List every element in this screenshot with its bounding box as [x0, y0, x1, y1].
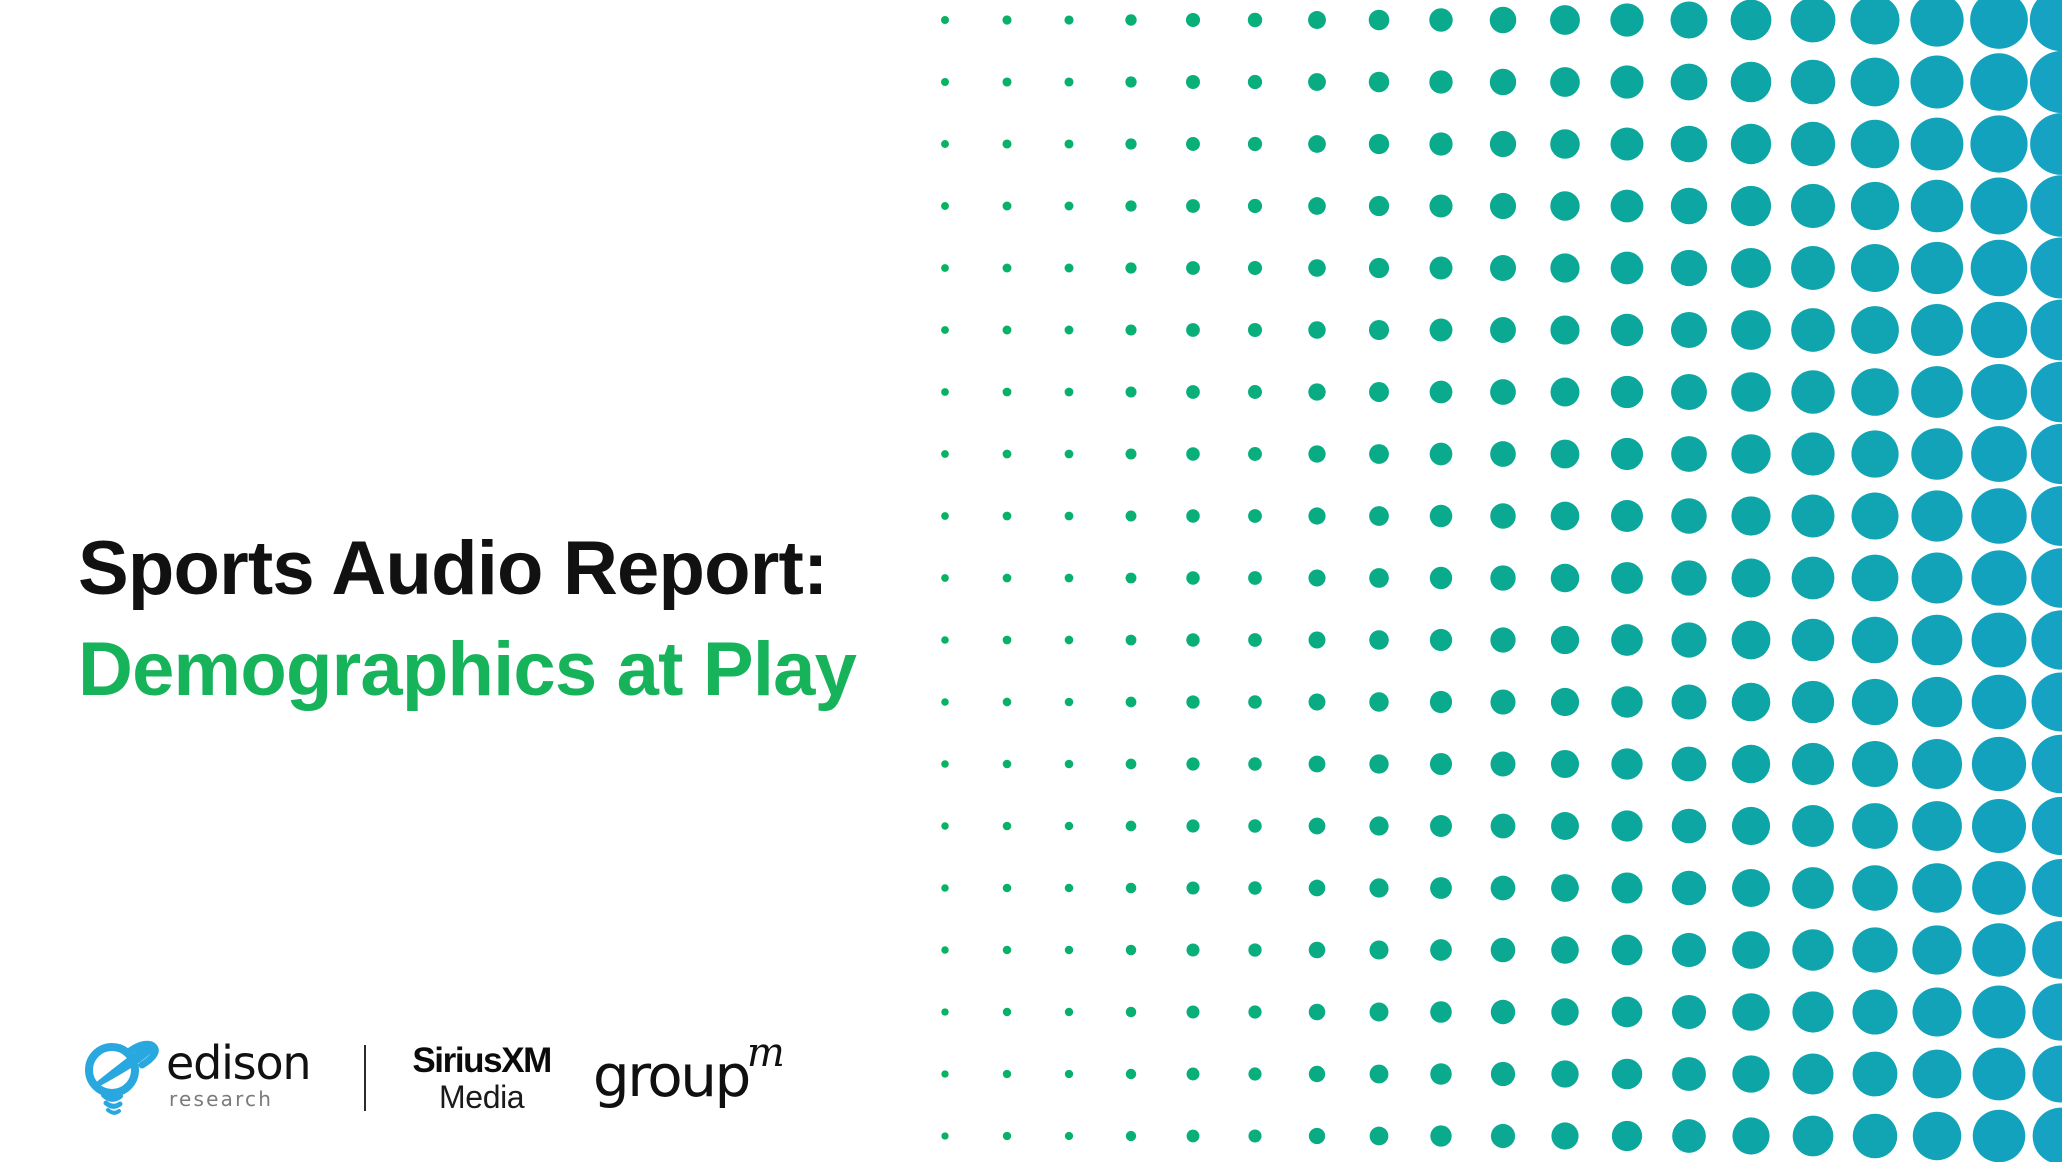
- halftone-dot: [1491, 938, 1516, 963]
- halftone-dot: [1671, 374, 1707, 410]
- halftone-dot: [1125, 324, 1136, 335]
- halftone-dot: [1611, 376, 1643, 408]
- halftone-dot: [1064, 15, 1073, 24]
- halftone-dot: [1065, 884, 1073, 892]
- halftone-dot: [1003, 264, 1012, 273]
- halftone-dot: [1126, 1131, 1136, 1141]
- halftone-dot: [1732, 869, 1770, 907]
- halftone-dot: [1430, 629, 1452, 651]
- halftone-dot: [1671, 560, 1706, 595]
- halftone-dot: [1490, 565, 1515, 590]
- halftone-dot: [1970, 53, 2027, 110]
- halftone-dot: [1551, 750, 1579, 778]
- halftone-dot: [1248, 13, 1262, 27]
- halftone-dot: [1731, 124, 1771, 164]
- halftone-dot: [1369, 692, 1388, 711]
- halftone-dot: [1187, 1006, 1200, 1019]
- halftone-dot: [1003, 884, 1012, 893]
- halftone-dot: [1972, 861, 2026, 915]
- halftone-dot: [1369, 444, 1389, 464]
- logo-bar: edison research SiriusXM Media group m: [78, 1028, 787, 1128]
- halftone-dot: [1186, 509, 1200, 523]
- halftone-dot: [1126, 635, 1137, 646]
- halftone-dot: [1248, 757, 1262, 771]
- halftone-dot: [2032, 983, 2062, 1040]
- halftone-dot: [1791, 246, 1835, 290]
- halftone-dot: [1672, 1057, 1706, 1091]
- halftone-dot: [1732, 931, 1770, 969]
- halftone-dot: [1853, 1114, 1898, 1159]
- halftone-dot: [1186, 695, 1199, 708]
- halftone-dot: [1248, 571, 1262, 585]
- halftone-dot: [1248, 509, 1262, 523]
- halftone-dot: [1971, 488, 2026, 543]
- halftone-dot: [1551, 502, 1580, 531]
- halftone-dot: [2032, 1045, 2062, 1102]
- halftone-dot: [1852, 927, 1897, 972]
- halftone-dot: [1490, 503, 1516, 529]
- halftone-dot: [1430, 753, 1452, 775]
- halftone-dot: [1187, 1130, 1200, 1143]
- halftone-dot: [1732, 1117, 1769, 1154]
- halftone-dot: [1003, 388, 1012, 397]
- halftone-dot: [1731, 310, 1771, 350]
- halftone-dot: [1430, 319, 1453, 342]
- title-line-primary: Sports Audio Report:: [78, 518, 898, 619]
- halftone-dot: [1490, 441, 1516, 467]
- halftone-dot: [1003, 202, 1012, 211]
- halftone-dot: [1064, 139, 1073, 148]
- halftone-dot: [1851, 0, 1900, 44]
- halftone-dot: [1611, 810, 1642, 841]
- halftone-dot: [1791, 370, 1834, 413]
- halftone-dot: [1065, 1070, 1073, 1078]
- halftone-dot: [1248, 323, 1262, 337]
- halftone-dot: [1065, 636, 1074, 645]
- halftone-dot: [1732, 993, 1770, 1031]
- halftone-dot: [1309, 1128, 1325, 1144]
- halftone-dot: [1793, 1116, 1834, 1157]
- halftone-dot: [1732, 621, 1771, 660]
- logo-divider: [364, 1045, 366, 1111]
- halftone-dot: [1910, 0, 1963, 47]
- halftone-dot: [1186, 13, 1200, 27]
- halftone-dot-svg: [920, 0, 2062, 1162]
- halftone-dot: [1551, 378, 1580, 407]
- halftone-dot: [1065, 326, 1074, 335]
- halftone-dot: [1732, 807, 1770, 845]
- halftone-dot: [2030, 113, 2062, 175]
- halftone-dot: [1792, 929, 1833, 970]
- halftone-dot: [2032, 921, 2062, 979]
- halftone-dot: [1551, 936, 1579, 964]
- halftone-dot: [1003, 326, 1012, 335]
- halftone-dot: [1970, 115, 2027, 172]
- halftone-dot: [1551, 812, 1579, 840]
- halftone-dot: [1852, 679, 1898, 725]
- halftone-dot: [1186, 571, 1199, 584]
- halftone-dot: [1550, 5, 1580, 35]
- halftone-dot: [1851, 368, 1899, 416]
- slide-canvas: Sports Audio Report: Demographics at Pla…: [0, 0, 2062, 1162]
- halftone-dot: [1550, 67, 1580, 97]
- halftone-dot: [1612, 1121, 1642, 1151]
- halftone-dot: [1913, 1112, 1962, 1161]
- halftone-dot: [1308, 507, 1325, 524]
- halftone-dot: [1309, 880, 1326, 897]
- halftone-dot: [1002, 139, 1011, 148]
- halftone-dot: [1430, 257, 1453, 280]
- halftone-dot: [1248, 1129, 1261, 1142]
- halftone-dot: [1430, 1063, 1451, 1084]
- halftone-dot: [1490, 689, 1515, 714]
- halftone-dot: [1912, 739, 1962, 789]
- halftone-dot: [1912, 677, 1962, 727]
- halftone-dot: [1852, 865, 1898, 911]
- halftone-dot: [1369, 940, 1388, 959]
- halftone-dot: [1911, 428, 1962, 479]
- halftone-dot: [1369, 568, 1389, 588]
- groupm-wordmark: group: [593, 1047, 749, 1105]
- halftone-dot: [1612, 935, 1643, 966]
- halftone-dot: [1610, 65, 1643, 98]
- halftone-dot: [1003, 636, 1012, 645]
- halftone-dot: [1309, 632, 1326, 649]
- halftone-dot: [1611, 128, 1644, 161]
- halftone-dot: [1973, 1048, 2026, 1101]
- halftone-dot: [941, 760, 949, 768]
- halftone-dot: [1065, 760, 1074, 769]
- halftone-dot: [1369, 258, 1389, 278]
- halftone-dot: [2031, 548, 2062, 608]
- halftone-dot: [1430, 381, 1453, 404]
- logo-siriusxm-media: SiriusXM Media: [412, 1040, 551, 1116]
- halftone-dot: [1186, 385, 1200, 399]
- halftone-dot: [941, 450, 949, 458]
- halftone-dot: [1309, 942, 1326, 959]
- halftone-dot: [1671, 498, 1707, 534]
- halftone-dot: [1248, 75, 1262, 89]
- halftone-dot: [2033, 1108, 2062, 1162]
- halftone-dot: [1430, 505, 1453, 528]
- halftone-dot: [1851, 306, 1899, 354]
- halftone-dot: [941, 884, 948, 891]
- halftone-dot: [1911, 180, 1963, 232]
- halftone-dot: [1309, 1066, 1325, 1082]
- halftone-dot: [1731, 62, 1772, 103]
- halftone-dot: [1369, 754, 1388, 773]
- halftone-dot: [2030, 51, 2062, 113]
- halftone-dot: [1308, 73, 1326, 91]
- halftone-dot: [1126, 1007, 1136, 1017]
- halftone-dot-gradient-decoration: [920, 0, 2062, 1162]
- halftone-dot: [1003, 1070, 1011, 1078]
- siriusxm-subtext: Media: [439, 1080, 524, 1114]
- halftone-dot: [1972, 799, 2026, 853]
- halftone-dot: [941, 512, 949, 520]
- halftone-dot: [1671, 436, 1707, 472]
- halftone-dot: [1672, 1119, 1706, 1153]
- halftone-dot: [1852, 617, 1899, 664]
- halftone-dot: [1911, 304, 1963, 356]
- halftone-dot: [1612, 1059, 1643, 1090]
- halftone-dot: [1791, 0, 1836, 42]
- halftone-dot: [1430, 691, 1452, 713]
- logo-groupm: group m: [593, 1033, 787, 1123]
- halftone-dot: [1852, 989, 1897, 1034]
- halftone-dot: [1126, 697, 1137, 708]
- halftone-dot: [1551, 1060, 1578, 1087]
- halftone-dot: [1852, 803, 1898, 849]
- halftone-dot: [1972, 737, 2026, 791]
- halftone-dot: [1125, 386, 1136, 397]
- halftone-dot: [1430, 1125, 1451, 1146]
- halftone-dot: [1732, 745, 1770, 783]
- halftone-dot: [1491, 1124, 1515, 1148]
- halftone-dot: [1731, 248, 1771, 288]
- halftone-dot: [1791, 184, 1835, 228]
- halftone-dot: [941, 16, 949, 24]
- halftone-dot: [941, 264, 949, 272]
- halftone-dot: [1672, 809, 1707, 844]
- halftone-dot: [1248, 137, 1262, 151]
- halftone-dot: [1792, 867, 1834, 909]
- halftone-dot: [1971, 240, 2028, 297]
- halftone-dot: [1065, 450, 1074, 459]
- halftone-dot: [1792, 743, 1834, 785]
- edison-wordmark-group: edison research: [166, 1040, 310, 1116]
- halftone-dot: [1851, 430, 1898, 477]
- halftone-dot: [1248, 261, 1262, 275]
- halftone-dot: [2032, 735, 2062, 794]
- halftone-dot: [1912, 863, 1962, 913]
- halftone-dot: [2031, 486, 2062, 546]
- halftone-dot: [1611, 686, 1643, 718]
- halftone-dot: [941, 1008, 948, 1015]
- halftone-dot: [1309, 756, 1326, 773]
- halftone-dot: [1065, 512, 1074, 521]
- halftone-dot: [1065, 202, 1074, 211]
- halftone-dot: [1002, 77, 1011, 86]
- halftone-dot: [1003, 698, 1012, 707]
- halftone-dot: [1732, 559, 1771, 598]
- halftone-dot: [1065, 388, 1074, 397]
- halftone-dot: [1911, 490, 1962, 541]
- halftone-dot: [1971, 426, 2027, 482]
- halftone-dot: [1126, 511, 1137, 522]
- halftone-dot: [1125, 262, 1136, 273]
- halftone-dot: [2031, 300, 2062, 361]
- halftone-dot: [941, 326, 949, 334]
- halftone-dot: [1611, 748, 1642, 779]
- halftone-dot: [1550, 129, 1580, 159]
- halftone-dot: [1065, 946, 1073, 954]
- halftone-dot: [1187, 1068, 1200, 1081]
- halftone-dot: [1430, 939, 1452, 961]
- halftone-dot: [2032, 797, 2062, 855]
- halftone-dot: [1672, 871, 1706, 905]
- halftone-dot: [1248, 1005, 1261, 1018]
- halftone-dot: [1003, 1008, 1011, 1016]
- halftone-dot: [1731, 434, 1770, 473]
- halftone-dot: [1731, 496, 1770, 535]
- halftone-dot: [1912, 925, 1961, 974]
- halftone-dot: [1551, 998, 1578, 1025]
- halftone-dot: [941, 140, 949, 148]
- halftone-dot: [1126, 449, 1137, 460]
- halftone-dot: [1671, 126, 1708, 163]
- page-title: Sports Audio Report: Demographics at Pla…: [78, 518, 898, 720]
- halftone-dot: [1912, 615, 1963, 666]
- halftone-dot: [1186, 137, 1200, 151]
- halftone-dot: [1851, 58, 1900, 107]
- halftone-dot: [1551, 440, 1580, 469]
- halftone-dot: [1065, 1008, 1073, 1016]
- halftone-dot: [1126, 883, 1137, 894]
- halftone-dot: [1308, 321, 1325, 338]
- title-line-secondary: Demographics at Play: [78, 619, 898, 720]
- halftone-dot: [1308, 383, 1325, 400]
- halftone-dot: [1972, 985, 2025, 1038]
- halftone-dot: [1971, 178, 2028, 235]
- halftone-dot: [941, 698, 949, 706]
- halftone-dot: [1064, 77, 1073, 86]
- halftone-dot: [941, 574, 949, 582]
- halftone-dot: [1611, 500, 1643, 532]
- halftone-dot: [1369, 506, 1389, 526]
- halftone-dot: [1126, 759, 1137, 770]
- halftone-dot: [1308, 569, 1325, 586]
- halftone-dot: [941, 1132, 948, 1139]
- halftone-dot: [1430, 443, 1453, 466]
- halftone-dot: [1065, 698, 1074, 707]
- halftone-dot: [1732, 683, 1771, 722]
- halftone-dot: [1002, 15, 1011, 24]
- halftone-dot: [1731, 372, 1771, 412]
- halftone-dot: [1003, 450, 1012, 459]
- halftone-dot: [1851, 120, 1899, 168]
- halftone-dot: [1369, 320, 1389, 340]
- halftone-dot: [1248, 881, 1261, 894]
- halftone-dot: [1308, 259, 1326, 277]
- halftone-dot: [1125, 14, 1136, 25]
- halftone-dot: [1369, 196, 1389, 216]
- halftone-dot: [941, 78, 949, 86]
- halftone-dot: [941, 1070, 948, 1077]
- halftone-dot: [1248, 1067, 1261, 1080]
- halftone-dot: [1852, 555, 1899, 602]
- halftone-dot: [941, 946, 948, 953]
- halftone-dot: [1186, 323, 1200, 337]
- halftone-dot: [1490, 131, 1516, 157]
- halftone-dot: [1309, 694, 1326, 711]
- halftone-dot: [1792, 991, 1833, 1032]
- halftone-dot: [1851, 244, 1899, 292]
- halftone-dot: [1792, 557, 1835, 600]
- halftone-dot: [1369, 72, 1389, 92]
- halftone-dot: [1792, 681, 1834, 723]
- halftone-dot: [1003, 946, 1011, 954]
- halftone-dot: [1913, 1050, 1962, 1099]
- halftone-dot: [1186, 633, 1199, 646]
- halftone-dot: [1550, 315, 1579, 344]
- halftone-dot: [1003, 512, 1012, 521]
- halftone-dot: [1308, 135, 1326, 153]
- halftone-dot: [2031, 424, 2062, 484]
- halftone-dot: [1126, 945, 1137, 956]
- halftone-dot: [1612, 997, 1643, 1028]
- halftone-dot: [1912, 553, 1963, 604]
- halftone-dot: [1369, 816, 1388, 835]
- halftone-dot: [1911, 118, 1964, 171]
- halftone-dot: [2030, 175, 2062, 236]
- logo-edison-research: edison research: [78, 1040, 310, 1116]
- halftone-dot: [1672, 685, 1707, 720]
- halftone-dot: [2030, 237, 2062, 298]
- halftone-dot: [1248, 943, 1261, 956]
- halftone-dot: [2031, 610, 2062, 669]
- halftone-dot: [1186, 881, 1199, 894]
- halftone-dot: [1732, 1055, 1769, 1092]
- halftone-dot: [1671, 188, 1707, 224]
- halftone-dot: [1125, 76, 1136, 87]
- halftone-dot: [941, 202, 949, 210]
- halftone-dot: [1611, 438, 1643, 470]
- halftone-dot: [2032, 673, 2062, 732]
- halftone-dot: [1731, 186, 1771, 226]
- halftone-dot: [1970, 0, 2028, 49]
- halftone-dot: [1186, 943, 1199, 956]
- halftone-dot: [2030, 0, 2062, 51]
- halftone-dot: [941, 822, 948, 829]
- halftone-dot: [1672, 995, 1706, 1029]
- groupm-superscript-m: m: [747, 1033, 785, 1073]
- halftone-dot: [1309, 818, 1326, 835]
- halftone-dot: [1248, 695, 1262, 709]
- halftone-dot: [1971, 550, 2026, 605]
- halftone-dot: [1490, 255, 1516, 281]
- halftone-dot: [1369, 134, 1389, 154]
- halftone-dot: [1430, 1001, 1452, 1023]
- halftone-dot: [1551, 688, 1579, 716]
- halftone-dot: [1792, 1053, 1833, 1094]
- halftone-dot: [1791, 60, 1836, 105]
- halftone-dot: [1248, 447, 1262, 461]
- halftone-dot: [1911, 366, 1963, 418]
- halftone-dot: [1791, 494, 1834, 537]
- halftone-dot: [1851, 182, 1899, 230]
- halftone-dot: [1972, 675, 2027, 730]
- halftone-dot: [1551, 564, 1580, 593]
- halftone-dot: [1065, 264, 1074, 273]
- halftone-dot: [1248, 633, 1262, 647]
- halftone-dot: [1065, 1132, 1073, 1140]
- halftone-dot: [1853, 1052, 1898, 1097]
- halftone-dot: [1186, 75, 1200, 89]
- halftone-dot: [2032, 859, 2062, 917]
- halftone-dot: [1490, 627, 1515, 652]
- halftone-dot: [1611, 562, 1643, 594]
- halftone-dot: [1248, 199, 1262, 213]
- halftone-dot: [1912, 987, 1961, 1036]
- halftone-dot: [2031, 362, 2062, 422]
- halftone-dot: [1671, 2, 1708, 39]
- siriusxm-wordmark: SiriusXM: [412, 1043, 551, 1079]
- halftone-dot: [1309, 1004, 1325, 1020]
- halftone-dot: [1491, 814, 1516, 839]
- halftone-dot: [1003, 1132, 1011, 1140]
- halftone-dot: [1610, 3, 1643, 36]
